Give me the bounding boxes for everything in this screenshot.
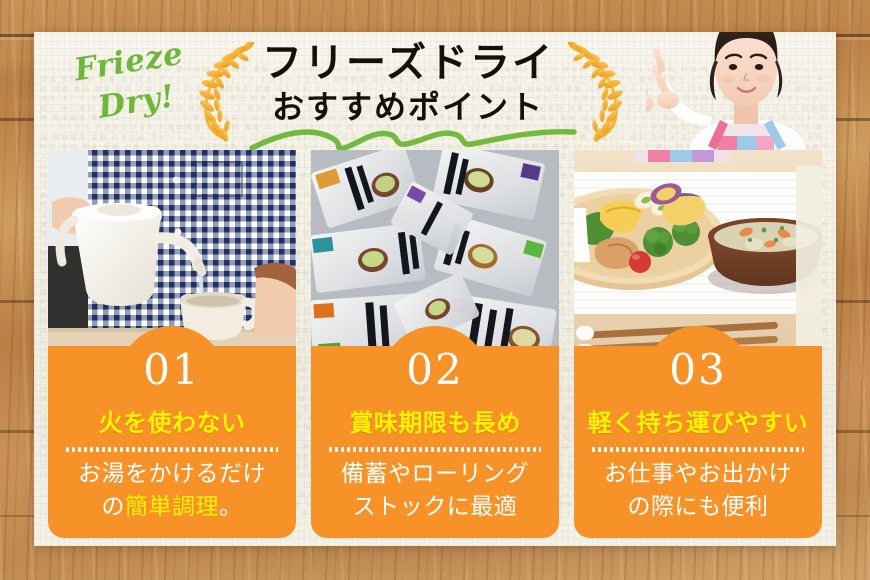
feature-card-02-body-line2: ストックに最適 <box>311 491 559 524</box>
feature-card-01-body-line2: の簡単調理。 <box>48 491 296 524</box>
feature-card-02-number: 02 <box>311 346 559 394</box>
feature-card-02[interactable]: 02 賞味期限も長め 備蓄やローリング ストックに最適 <box>311 150 559 538</box>
feature-card-02-body-line2-post: ストックに最適 <box>353 494 518 520</box>
feature-card-03-body: お仕事やお出かけ の際にも便利 <box>574 458 822 524</box>
paper-panel: フリーズドライ お湯をかけるだけ 簡単調理 賞味期限 備蓄 ローリングストック … <box>34 32 836 546</box>
feature-card-03-body-line1: お仕事やお出かけ <box>574 458 822 491</box>
feature-card-03-number: 03 <box>574 346 822 394</box>
header: Frieze Dry! <box>34 32 836 150</box>
page-title: フリーズドライ <box>248 40 568 86</box>
feature-card-03-headline: 軽く持ち運びやすい <box>574 408 822 438</box>
banner-root: フリーズドライ お湯をかけるだけ 簡単調理 賞味期限 備蓄 ローリングストック … <box>0 0 870 580</box>
page-subtitle: おすすめポイント <box>248 88 568 126</box>
feature-card-02-body: 備蓄やローリング ストックに最適 <box>311 458 559 524</box>
script-logo-line2: Dry! <box>96 78 178 126</box>
feature-card-02-divider <box>329 447 541 452</box>
feature-card-02-body-line1: 備蓄やローリング <box>311 458 559 491</box>
feature-card-03-body-line2: の際にも便利 <box>574 491 822 524</box>
feature-card-03-divider <box>592 447 804 452</box>
feature-card-01-body-line2-pre: の <box>102 494 126 520</box>
feature-card-01-body-line2-post: 。 <box>219 494 243 520</box>
feature-card-03-body-line2-post: の際にも便利 <box>628 494 769 520</box>
feature-card-02-headline: 賞味期限も長め <box>311 408 559 438</box>
feature-card-01-headline: 火を使わない <box>48 408 296 438</box>
script-logo-line1: Frieze <box>72 36 186 89</box>
feature-card-01[interactable]: 01 火を使わない お湯をかけるだけ の簡単調理。 <box>48 150 296 538</box>
feature-card-01-divider <box>66 447 278 452</box>
feature-card-list: 01 火を使わない お湯をかけるだけ の簡単調理。 <box>34 150 836 546</box>
feature-card-03[interactable]: 03 軽く持ち運びやすい お仕事やお出かけ の際にも便利 <box>574 150 822 538</box>
feature-card-01-number: 01 <box>48 346 296 394</box>
feature-card-01-body-line2-highlight: 簡単調理 <box>125 494 219 520</box>
feature-card-01-body-line1: お湯をかけるだけ <box>48 458 296 491</box>
feature-card-01-body: お湯をかけるだけ の簡単調理。 <box>48 458 296 524</box>
title-block: フリーズドライ おすすめポイント <box>248 40 568 126</box>
